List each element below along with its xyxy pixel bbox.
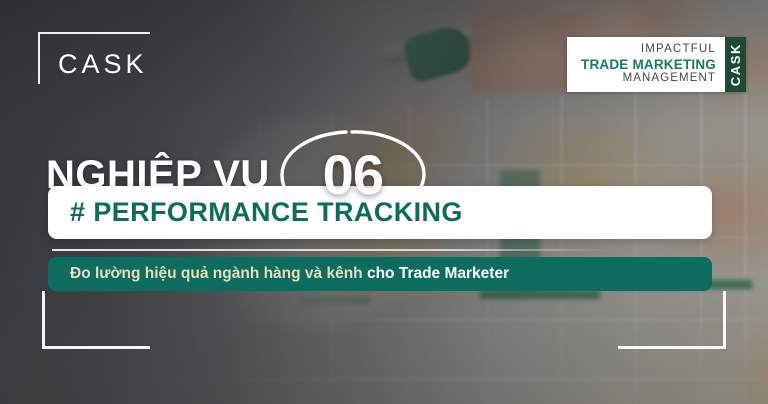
logo-line-trade-marketing: TRADE MARKETING [581,57,716,73]
lesson-number: 06 [323,147,383,203]
divider-line [52,249,610,251]
subtitle: Đo lường hiệu quả ngành hàng và kênh cho… [70,266,509,282]
bottom-left-bracket-icon [42,291,150,349]
logo-cask-tab-text: CASK [728,43,743,86]
logo-text-box: IMPACTFUL TRADE MARKETING MANAGEMENT [567,37,725,92]
logo-line-management: MANAGEMENT [581,72,716,86]
logo-line-impactful: IMPACTFUL [581,43,716,57]
cask-wordmark: CASK [58,51,150,78]
promo-banner: CASK IMPACTFUL TRADE MARKETING MANAGEMEN… [0,0,768,404]
subtitle-rest: cho Trade Marketer [363,265,509,282]
cask-logo: CASK [38,32,150,84]
logo-cask-tab: CASK [725,37,746,92]
subtitle-highlight: Đo lường hiệu quả ngành hàng và kênh [70,265,363,282]
trade-marketing-management-logo: IMPACTFUL TRADE MARKETING MANAGEMENT CAS… [567,37,746,92]
subtitle-bar: Đo lường hiệu quả ngành hàng và kênh cho… [48,257,712,291]
bottom-right-bracket-icon [618,291,726,349]
page-title: # PERFORMANCE TRACKING [70,199,463,226]
